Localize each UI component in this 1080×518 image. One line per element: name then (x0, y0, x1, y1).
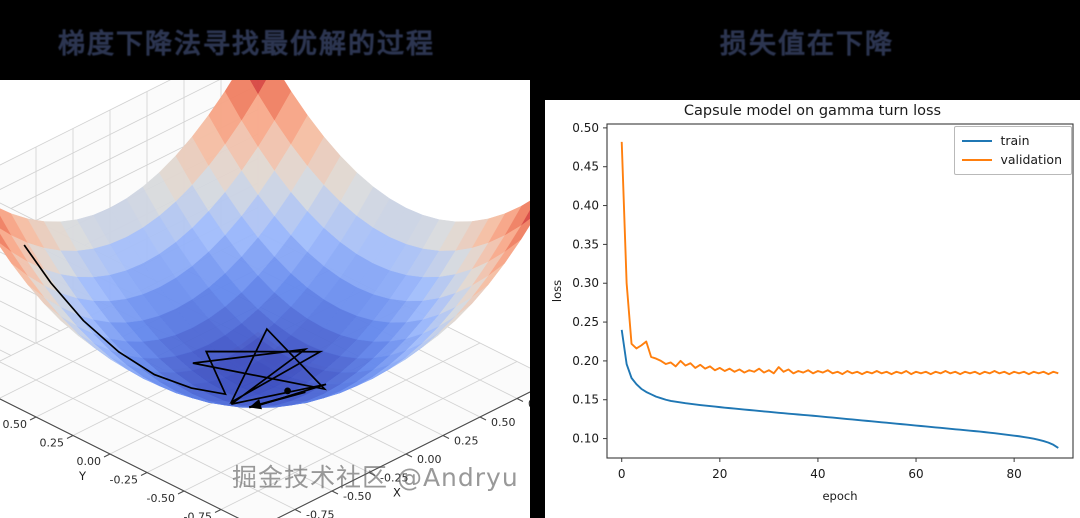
svg-text:0.50: 0.50 (491, 416, 516, 429)
svg-text:0.25: 0.25 (454, 435, 479, 448)
screenshot-root: { "headers": { "left": "梯度下降法寻找最优解的过程", … (0, 0, 1080, 518)
svg-text:-0.75: -0.75 (306, 509, 334, 518)
svg-text:0.30: 0.30 (572, 276, 599, 290)
svg-text:0: 0 (618, 467, 626, 481)
legend-label-validation: validation (1000, 152, 1062, 167)
svg-text:0.00: 0.00 (77, 455, 102, 468)
svg-text:0.25: 0.25 (40, 437, 65, 450)
chart-legend[interactable]: train validation (954, 126, 1072, 175)
legend-line-train-icon (962, 140, 992, 142)
surface-plot-svg: 0.000.250.500.751.001.251.501.752.00Z-1.… (0, 80, 530, 518)
svg-text:0.75: 0.75 (528, 398, 530, 411)
legend-item-validation[interactable]: validation (962, 150, 1062, 169)
loss-curve-chart: Capsule model on gamma turn loss 0.100.1… (545, 100, 1080, 518)
svg-text:40: 40 (810, 467, 825, 481)
left-panel-title: 梯度下降法寻找最优解的过程 (58, 22, 435, 61)
chart-ticks: 0.100.150.200.250.300.350.400.450.500204… (572, 121, 1021, 481)
svg-text:0.35: 0.35 (572, 237, 599, 251)
svg-text:0.45: 0.45 (572, 160, 599, 174)
svg-text:20: 20 (712, 467, 727, 481)
svg-text:-0.50: -0.50 (147, 492, 175, 505)
svg-text:Y: Y (78, 469, 87, 483)
svg-text:-0.25: -0.25 (110, 474, 138, 487)
svg-text:0.40: 0.40 (572, 199, 599, 213)
svg-text:0.20: 0.20 (572, 354, 599, 368)
svg-text:epoch: epoch (822, 489, 857, 503)
svg-text:-0.75: -0.75 (184, 511, 212, 518)
gradient-descent-3d-plot: 0.000.250.500.751.001.251.501.752.00Z-1.… (0, 80, 530, 518)
svg-text:0.10: 0.10 (572, 432, 599, 446)
svg-text:0.50: 0.50 (572, 121, 599, 135)
svg-text:-0.25: -0.25 (380, 472, 408, 485)
svg-text:60: 60 (908, 467, 923, 481)
svg-text:0.25: 0.25 (572, 315, 599, 329)
svg-text:0.50: 0.50 (3, 418, 28, 431)
svg-text:-0.50: -0.50 (343, 490, 371, 503)
legend-line-validation-icon (962, 159, 992, 161)
legend-item-train[interactable]: train (962, 131, 1062, 150)
svg-text:X: X (393, 486, 401, 500)
svg-text:loss: loss (550, 280, 564, 302)
svg-text:0.15: 0.15 (572, 393, 599, 407)
chart-series (622, 142, 1059, 448)
legend-label-train: train (1000, 133, 1029, 148)
svg-text:0.00: 0.00 (417, 453, 442, 466)
right-panel-title: 损失值在下降 (720, 22, 894, 61)
svg-text:80: 80 (1006, 467, 1021, 481)
